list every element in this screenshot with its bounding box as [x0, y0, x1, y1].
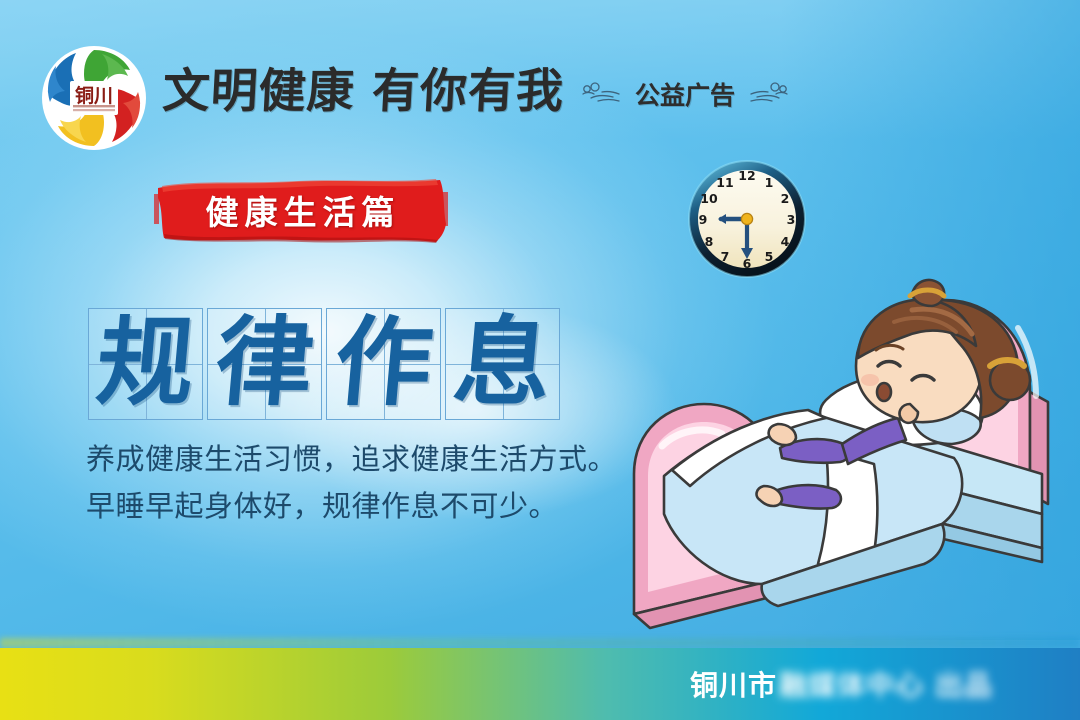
headline-char-2: 律 [203, 307, 326, 417]
footer-credit-blurred: 融媒体中心 出品 [779, 664, 993, 704]
headline-cell-3: 作 [326, 308, 441, 420]
body-copy: 养成健康生活习惯，追求健康生活方式。 早睡早起身体好，规律作息不可少。 [86, 436, 666, 530]
cloud-swirl-ornament-left [578, 81, 626, 107]
header: 铜川 文明健康 有你有我 公益广告 [0, 0, 1080, 160]
footer-credit-clear: 铜川市 [690, 664, 777, 704]
headline-char-1: 规 [84, 307, 207, 417]
svg-text:3: 3 [787, 212, 796, 227]
footer-seam [0, 638, 1080, 648]
headline-char-4: 息 [441, 307, 564, 417]
svg-text:9: 9 [699, 212, 708, 227]
girl-sleeping-in-bed-illustration [612, 262, 1080, 630]
headline-cell-4: 息 [445, 308, 560, 420]
section-banner-label: 健康生活篇 [152, 174, 450, 246]
psa-label: 公益广告 [635, 76, 735, 112]
headline-cell-2: 律 [207, 308, 322, 420]
headline-grid: 规 律 作 息 [88, 308, 560, 420]
svg-text:12: 12 [738, 168, 755, 183]
logo-city-name: 铜川 [75, 84, 113, 107]
svg-text:1: 1 [765, 175, 774, 190]
tongchuan-logo-icon: 铜川 [40, 44, 148, 152]
main-slogan: 文明健康 有你有我 [161, 52, 566, 121]
footer-bar: 铜川市 融媒体中心 出品 [0, 648, 1080, 720]
headline-char-3: 作 [322, 307, 445, 417]
svg-text:11: 11 [716, 175, 733, 190]
section-banner: 健康生活篇 [152, 174, 450, 246]
svg-text:4: 4 [781, 234, 790, 249]
footer-credit: 铜川市 融媒体中心 出品 [690, 664, 993, 704]
body-copy-line-2: 早睡早起身体好，规律作息不可少。 [86, 483, 666, 530]
headline-cell-1: 规 [88, 308, 203, 420]
psa-badge: 公益广告 [578, 76, 792, 112]
mouth [877, 383, 891, 401]
svg-text:8: 8 [705, 234, 714, 249]
svg-text:2: 2 [781, 191, 790, 206]
poster-canvas: 铜川 文明健康 有你有我 公益广告 [0, 0, 1080, 720]
svg-text:10: 10 [700, 191, 718, 206]
cloud-swirl-ornament-right [744, 81, 792, 107]
body-copy-line-1: 养成健康生活习惯，追求健康生活方式。 [86, 436, 666, 483]
